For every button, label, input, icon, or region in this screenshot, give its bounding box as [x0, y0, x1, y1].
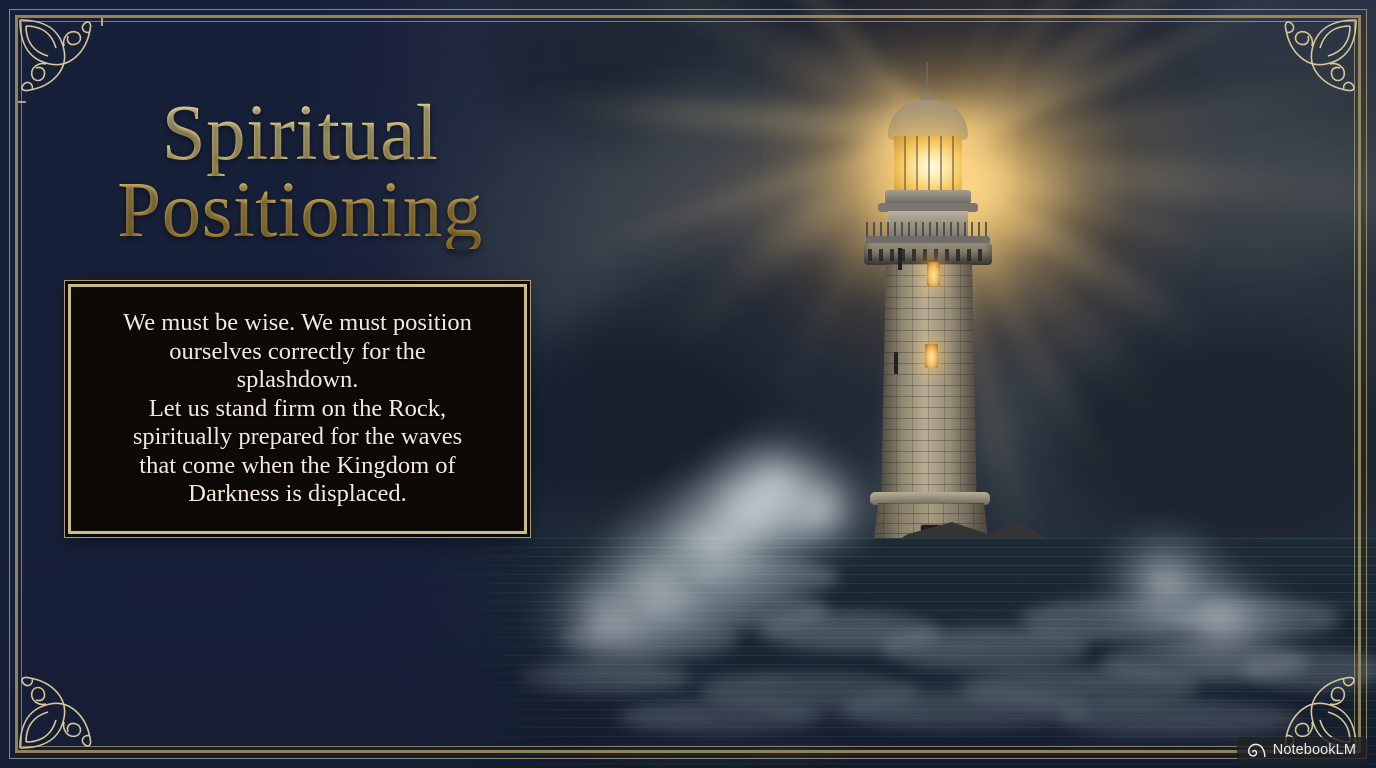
tower-slit-window: [894, 352, 898, 374]
notebooklm-spiral-icon: [1247, 743, 1266, 758]
title-line-2: Positioning: [40, 173, 560, 250]
quote-line: splashdown.: [123, 366, 472, 395]
lighthouse-spire: [926, 62, 928, 96]
watermark-label: NotebookLM: [1273, 742, 1356, 758]
lit-window: [925, 344, 938, 368]
lamp-base: [885, 190, 971, 204]
quote-box: We must be wise. We must positionourselv…: [68, 284, 527, 534]
lighthouse-dome: [888, 100, 968, 140]
presentation-slide: Spiritual Positioning We must be wise. W…: [0, 0, 1376, 768]
slide-title: Spiritual Positioning: [40, 96, 560, 249]
quote-line: Let us stand firm on the Rock,: [123, 395, 472, 424]
bottom-vignette: [0, 538, 1376, 768]
title-line-1: Spiritual: [40, 96, 560, 173]
quote-text: We must be wise. We must positionourselv…: [105, 301, 490, 517]
lighthouse-lamp: [894, 136, 962, 192]
quote-line: ourselves correctly for the: [123, 338, 472, 367]
notebooklm-watermark: NotebookLM: [1237, 737, 1368, 764]
tower-slit-window: [898, 248, 902, 270]
quote-line: that come when the Kingdom of: [123, 452, 472, 481]
quote-line: We must be wise. We must position: [123, 309, 472, 338]
lit-window: [927, 262, 940, 286]
quote-line: Darkness is displaced.: [123, 480, 472, 509]
quote-line: spiritually prepared for the waves: [123, 423, 472, 452]
